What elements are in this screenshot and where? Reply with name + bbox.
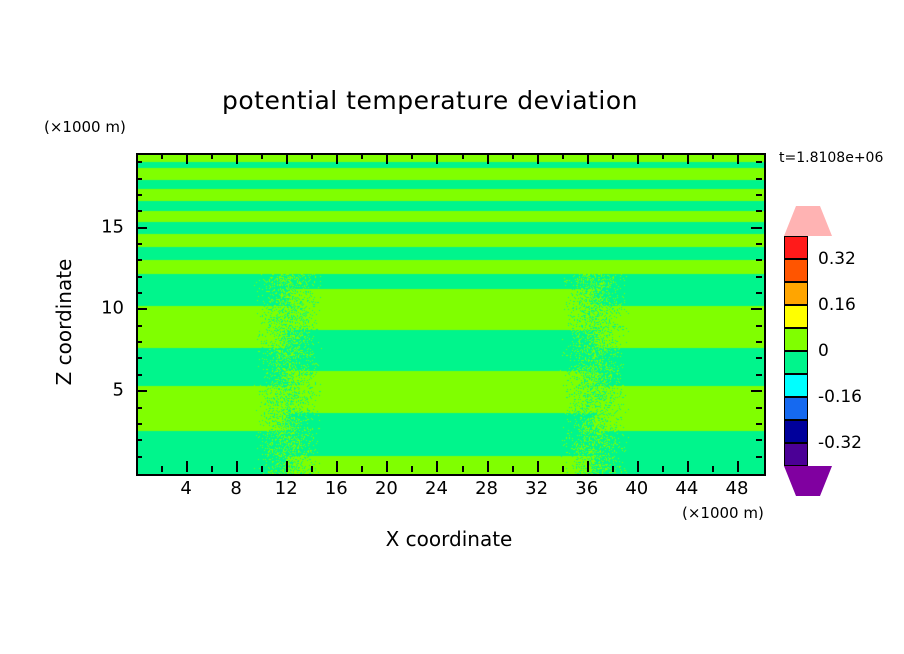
- y-axis-right-tick: [756, 341, 762, 343]
- colorbar-tick-label: 0.16: [818, 295, 856, 315]
- y-axis-minor-tick: [136, 456, 142, 458]
- x-axis-minor-tick: [612, 466, 614, 472]
- x-axis-major-tick: [587, 461, 589, 472]
- y-axis-tick-label: 5: [113, 380, 124, 401]
- y-axis-major-tick: [136, 308, 147, 310]
- x-axis-tick-label: 4: [180, 478, 191, 499]
- z-axis-unit-label: (×1000 m): [44, 118, 126, 136]
- x-axis-tick-label: 28: [475, 478, 498, 499]
- y-axis-right-tick: [751, 308, 762, 310]
- colorbar-band[interactable]: [784, 374, 808, 397]
- y-axis-major-tick: [136, 390, 147, 392]
- x-axis-minor-tick: [462, 466, 464, 472]
- y-axis-minor-tick: [136, 292, 142, 294]
- x-axis-tick-label: 12: [275, 478, 298, 499]
- colorbar-band[interactable]: [784, 351, 808, 374]
- x-axis-minor-tick: [662, 466, 664, 472]
- y-axis-right-tick: [756, 194, 762, 196]
- x-axis-top-tick: [386, 153, 388, 164]
- colorbar-band[interactable]: [784, 282, 808, 305]
- y-axis-minor-tick: [136, 341, 142, 343]
- colorbar-band[interactable]: [784, 259, 808, 282]
- x-axis-minor-tick: [562, 466, 564, 472]
- x-axis-tick-label: 44: [675, 478, 698, 499]
- y-axis-right-tick: [756, 276, 762, 278]
- timestamp-label: t=1.8108e+06: [779, 150, 883, 166]
- x-axis-top-tick: [537, 153, 539, 164]
- x-axis-tick-label: 32: [525, 478, 548, 499]
- x-axis-major-tick: [436, 461, 438, 472]
- x-axis-tick-label: 40: [625, 478, 648, 499]
- x-axis-top-tick: [662, 153, 664, 159]
- y-axis-minor-tick: [136, 161, 142, 163]
- x-axis-top-tick: [487, 153, 489, 164]
- y-axis-minor-tick: [136, 357, 142, 359]
- x-axis-minor-tick: [712, 466, 714, 472]
- y-axis-minor-tick: [136, 178, 142, 180]
- x-axis-major-tick: [737, 461, 739, 472]
- x-axis-major-tick: [487, 461, 489, 472]
- y-axis-right-tick: [756, 210, 762, 212]
- y-axis-minor-tick: [136, 423, 142, 425]
- x-axis-top-tick: [562, 153, 564, 159]
- colorbar-tick-label: -0.16: [818, 387, 862, 407]
- x-axis-major-tick: [637, 461, 639, 472]
- x-axis-top-tick: [687, 153, 689, 164]
- colorbar-tick-label: 0: [818, 341, 829, 361]
- x-axis-minor-tick: [161, 466, 163, 472]
- x-axis-tick-label: 8: [230, 478, 241, 499]
- x-axis-tick-label: 20: [375, 478, 398, 499]
- x-axis-major-tick: [186, 461, 188, 472]
- x-axis-top-tick: [462, 153, 464, 159]
- colorbar-tick-label: -0.32: [818, 433, 862, 453]
- colorbar-cap-top: [784, 206, 832, 236]
- y-axis-minor-tick: [136, 243, 142, 245]
- x-axis-major-tick: [336, 461, 338, 472]
- contour-figure: potential temperature deviation (×1000 m…: [0, 0, 904, 654]
- y-axis-tick-label: 15: [101, 216, 124, 237]
- y-axis-right-tick: [751, 227, 762, 229]
- x-axis-title: X coordinate: [136, 527, 762, 551]
- x-axis-major-tick: [687, 461, 689, 472]
- x-axis-tick-label: 48: [726, 478, 749, 499]
- plot-area: [136, 153, 766, 476]
- colorbar-cap-bottom: [784, 466, 832, 496]
- colorbar-band[interactable]: [784, 420, 808, 443]
- x-axis-top-tick: [436, 153, 438, 164]
- y-axis-right-tick: [756, 259, 762, 261]
- x-axis-unit-label: (×1000 m): [682, 504, 764, 522]
- x-axis-top-tick: [587, 153, 589, 164]
- y-axis-right-tick: [756, 357, 762, 359]
- y-axis-minor-tick: [136, 374, 142, 376]
- x-axis-minor-tick: [261, 466, 263, 472]
- y-axis-right-tick: [756, 456, 762, 458]
- x-axis-top-tick: [186, 153, 188, 164]
- y-axis-right-tick: [751, 390, 762, 392]
- x-axis-top-tick: [612, 153, 614, 159]
- y-axis-right-tick: [756, 325, 762, 327]
- y-axis-right-tick: [756, 161, 762, 163]
- colorbar-band[interactable]: [784, 328, 808, 351]
- x-axis-top-tick: [286, 153, 288, 164]
- colorbar-tick-label: 0.32: [818, 249, 856, 269]
- y-axis-right-tick: [756, 423, 762, 425]
- y-axis-major-tick: [136, 227, 147, 229]
- y-axis-minor-tick: [136, 210, 142, 212]
- page-title: potential temperature deviation: [0, 86, 860, 115]
- x-axis-top-tick: [411, 153, 413, 159]
- x-axis-major-tick: [236, 461, 238, 472]
- y-axis-right-tick: [756, 243, 762, 245]
- x-axis-major-tick: [537, 461, 539, 472]
- y-axis-minor-tick: [136, 439, 142, 441]
- x-axis-major-tick: [286, 461, 288, 472]
- x-axis-top-tick: [737, 153, 739, 164]
- x-axis-tick-label: 24: [425, 478, 448, 499]
- x-axis-top-tick: [161, 153, 163, 159]
- x-axis-major-tick: [386, 461, 388, 472]
- contour-field-canvas: [138, 155, 764, 474]
- x-axis-minor-tick: [361, 466, 363, 472]
- x-axis-top-tick: [336, 153, 338, 164]
- y-axis-right-tick: [756, 407, 762, 409]
- x-axis-tick-label: 16: [325, 478, 348, 499]
- y-axis-right-tick: [756, 439, 762, 441]
- colorbar-band[interactable]: [784, 397, 808, 420]
- x-axis-top-tick: [637, 153, 639, 164]
- colorbar-band[interactable]: [784, 236, 808, 259]
- y-axis-right-tick: [756, 292, 762, 294]
- y-axis-right-tick: [756, 374, 762, 376]
- y-axis-tick-label: 10: [101, 298, 124, 319]
- y-axis-minor-tick: [136, 194, 142, 196]
- colorbar-band[interactable]: [784, 443, 808, 466]
- x-axis-top-tick: [512, 153, 514, 159]
- x-axis-top-tick: [211, 153, 213, 159]
- colorbar[interactable]: [784, 236, 808, 466]
- y-axis-minor-tick: [136, 259, 142, 261]
- x-axis-minor-tick: [512, 466, 514, 472]
- x-axis-minor-tick: [211, 466, 213, 472]
- x-axis-top-tick: [712, 153, 714, 159]
- y-axis-minor-tick: [136, 407, 142, 409]
- y-axis-right-tick: [756, 178, 762, 180]
- x-axis-top-tick: [361, 153, 363, 159]
- x-axis-top-tick: [311, 153, 313, 159]
- x-axis-minor-tick: [311, 466, 313, 472]
- y-axis-minor-tick: [136, 325, 142, 327]
- x-axis-top-tick: [261, 153, 263, 159]
- x-axis-minor-tick: [411, 466, 413, 472]
- y-axis-minor-tick: [136, 276, 142, 278]
- x-axis-tick-label: 36: [575, 478, 598, 499]
- colorbar-band[interactable]: [784, 305, 808, 328]
- y-axis-title: Z coordinate: [52, 232, 76, 412]
- x-axis-top-tick: [236, 153, 238, 164]
